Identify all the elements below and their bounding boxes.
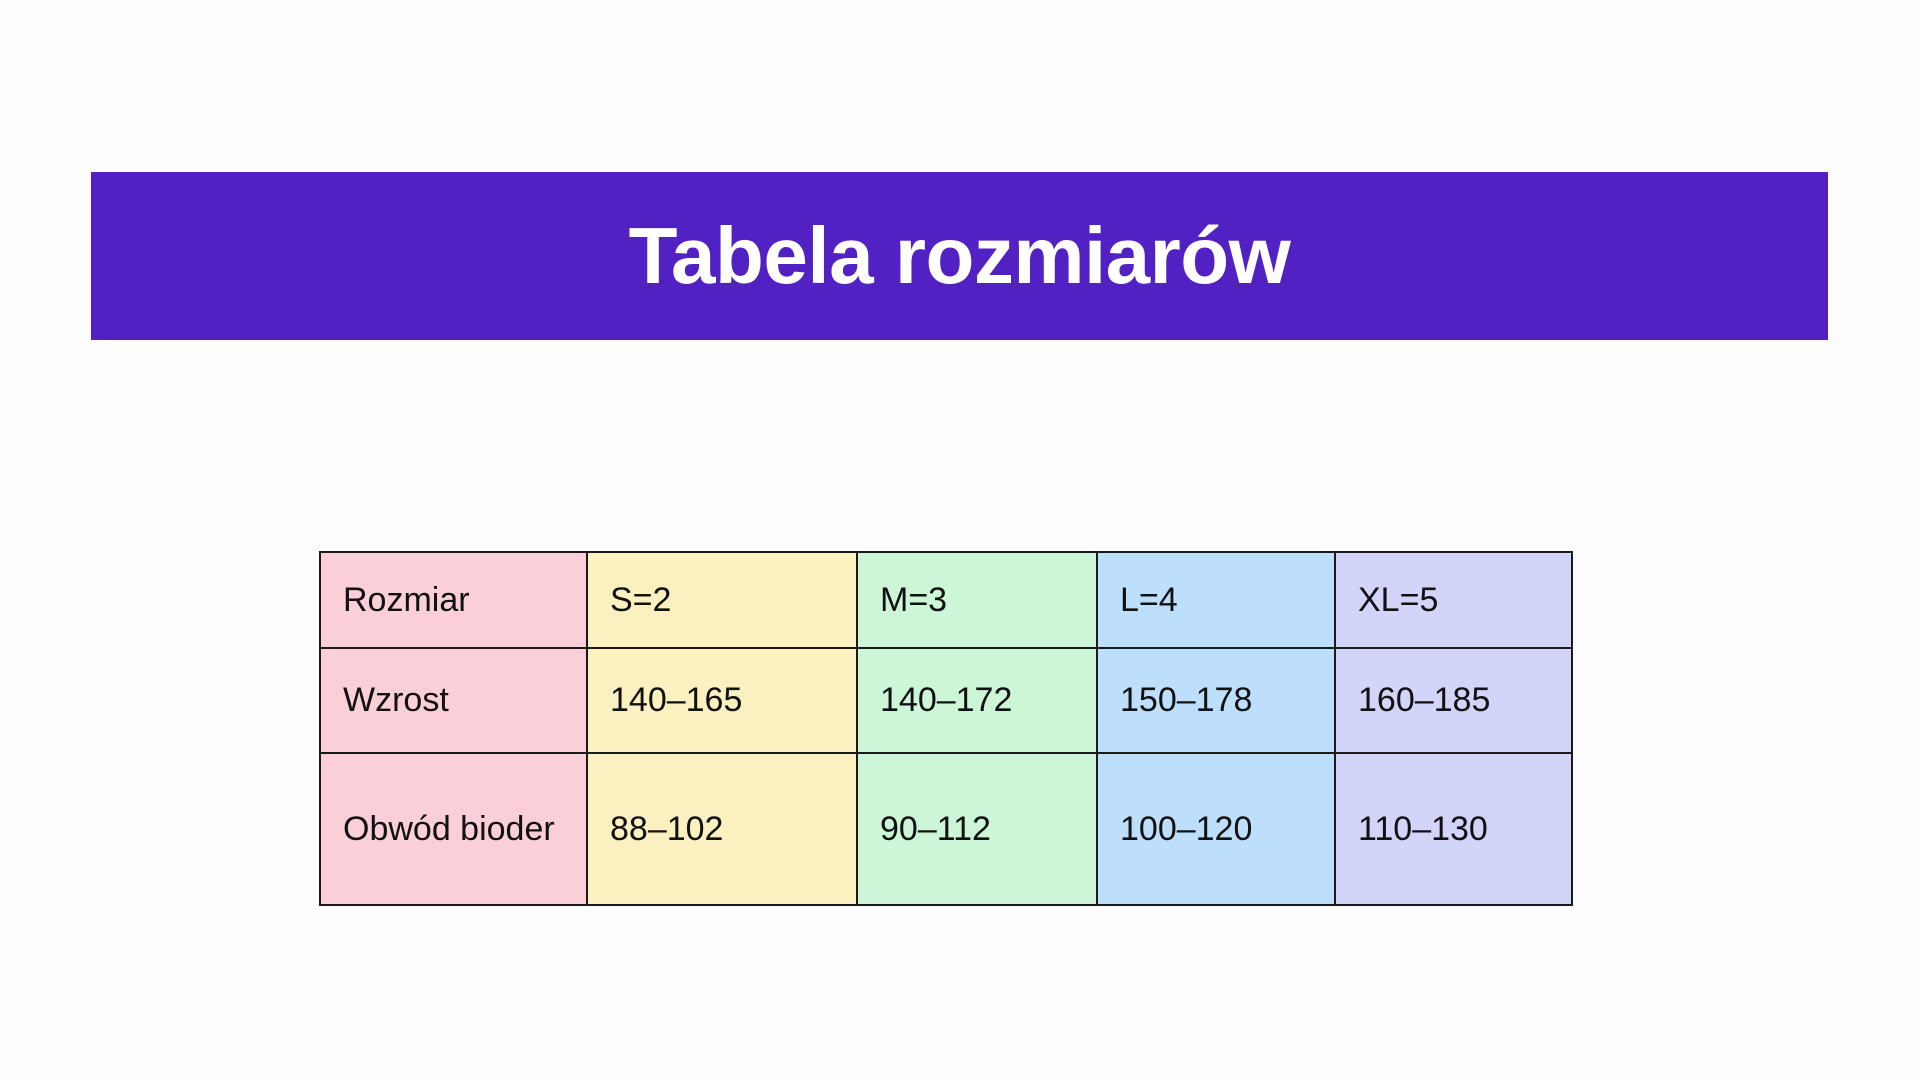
cell-wzrost-s: 140–165	[587, 648, 857, 753]
cell-size-xl: XL=5	[1335, 552, 1572, 648]
table-row: Wzrost 140–165 140–172 150–178 160–185	[320, 648, 1572, 753]
cell-wzrost-xl: 160–185	[1335, 648, 1572, 753]
cell-wzrost-m: 140–172	[857, 648, 1097, 753]
cell-bioder-xl: 110–130	[1335, 753, 1572, 905]
row-label-wzrost: Wzrost	[320, 648, 587, 753]
cell-size-l: L=4	[1097, 552, 1335, 648]
row-label-obwod-bioder: Obwód bioder	[320, 753, 587, 905]
cell-bioder-l: 100–120	[1097, 753, 1335, 905]
size-chart-container: Rozmiar S=2 M=3 L=4 XL=5 Wzrost 140–165 …	[319, 551, 1573, 906]
cell-size-m: M=3	[857, 552, 1097, 648]
table-row: Obwód bioder 88–102 90–112 100–120 110–1…	[320, 753, 1572, 905]
cell-size-s: S=2	[587, 552, 857, 648]
table-row: Rozmiar S=2 M=3 L=4 XL=5	[320, 552, 1572, 648]
title-banner: Tabela rozmiarów	[91, 172, 1828, 340]
cell-bioder-m: 90–112	[857, 753, 1097, 905]
page-title: Tabela rozmiarów	[629, 216, 1291, 296]
cell-wzrost-l: 150–178	[1097, 648, 1335, 753]
size-chart-table: Rozmiar S=2 M=3 L=4 XL=5 Wzrost 140–165 …	[319, 551, 1573, 906]
cell-bioder-s: 88–102	[587, 753, 857, 905]
row-label-rozmiar: Rozmiar	[320, 552, 587, 648]
